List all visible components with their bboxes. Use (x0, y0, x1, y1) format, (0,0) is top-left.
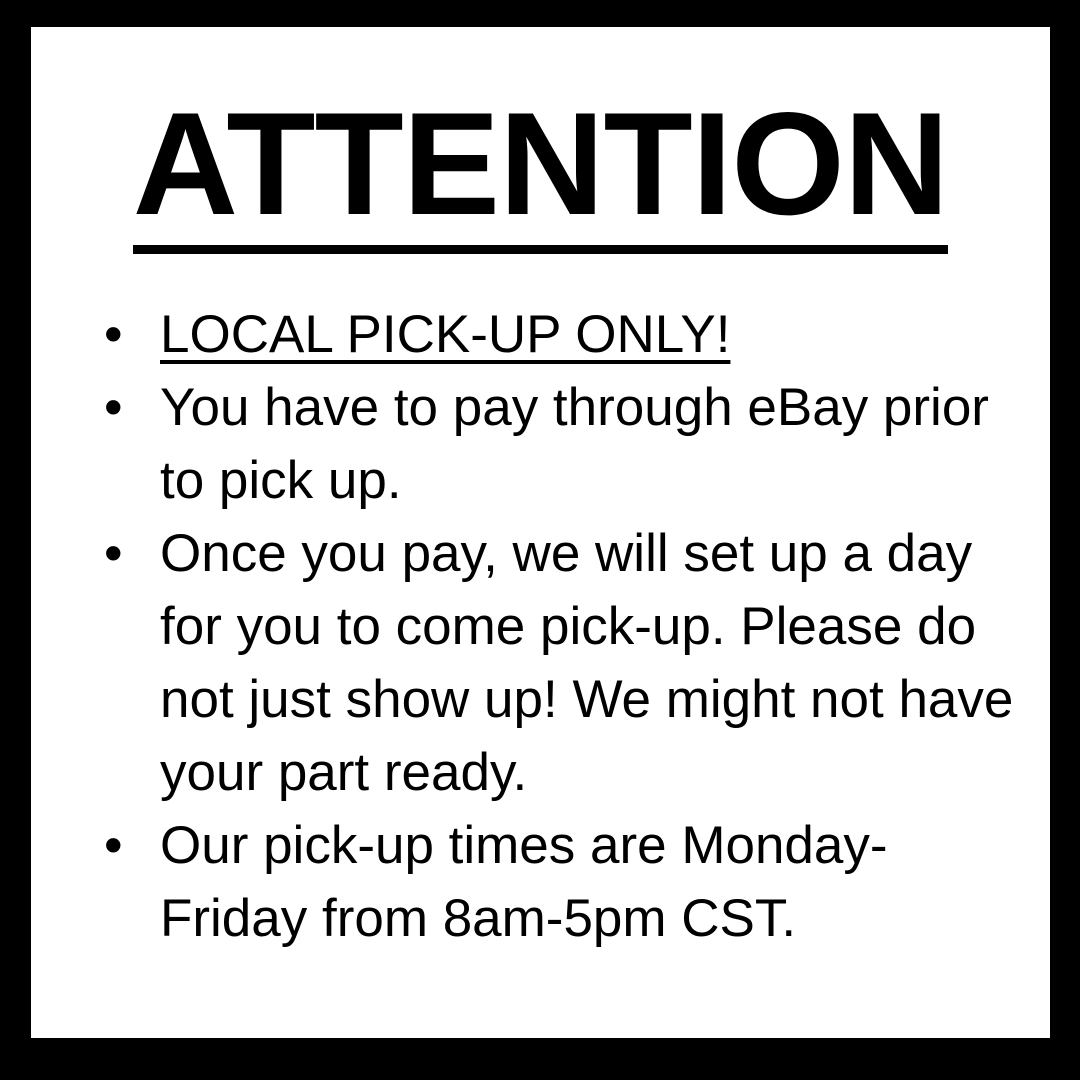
list-item: • Once you pay, we will set up a day for… (78, 517, 1018, 809)
page-title-text: ATTENTION (133, 91, 949, 254)
list-item-text: You have to pay through eBay prior to pi… (160, 371, 1018, 517)
list-item-text: Our pick-up times are Monday-Friday from… (160, 809, 1018, 955)
bullet-icon: • (104, 517, 126, 590)
list-item: • LOCAL PICK-UP ONLY! (78, 298, 1018, 371)
bullet-icon: • (104, 298, 126, 371)
page-title: ATTENTION (31, 91, 1050, 254)
policy-bullet-list: • LOCAL PICK-UP ONLY! • You have to pay … (78, 298, 1018, 955)
list-item: • You have to pay through eBay prior to … (78, 371, 1018, 517)
poster-panel: ATTENTION • LOCAL PICK-UP ONLY! • You ha… (31, 27, 1050, 1038)
bullet-icon: • (104, 809, 126, 882)
list-item: • Our pick-up times are Monday-Friday fr… (78, 809, 1018, 955)
attention-poster: ATTENTION • LOCAL PICK-UP ONLY! • You ha… (0, 0, 1080, 1080)
list-item-text: LOCAL PICK-UP ONLY! (160, 298, 1018, 371)
bullet-icon: • (104, 371, 126, 444)
list-item-text: Once you pay, we will set up a day for y… (160, 517, 1018, 809)
